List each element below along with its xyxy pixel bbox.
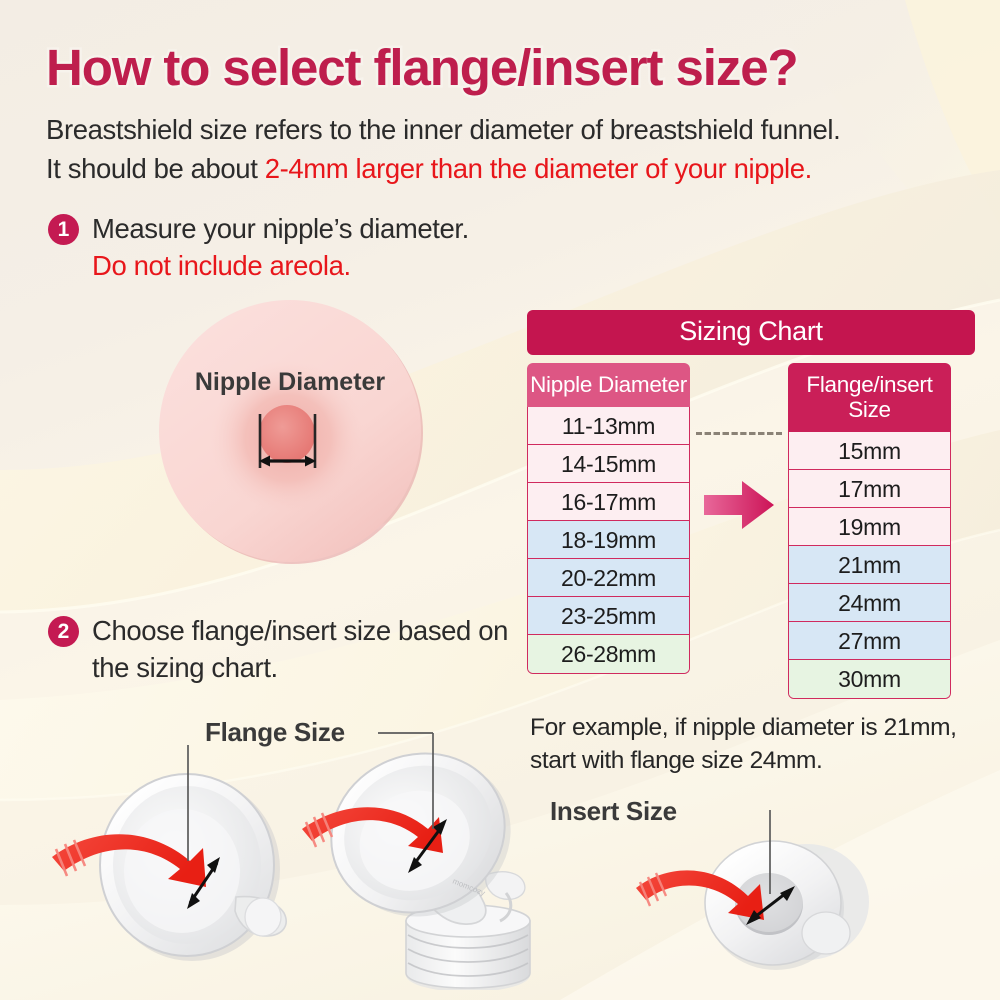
insert-ring-illustration [630,810,930,990]
subtitle-line-2: It should be about 2-4mm larger than the… [46,149,966,188]
chart-cell-flange: 27mm [789,622,950,660]
chart-cells-flange: 15mm17mm19mm21mm24mm27mm30mm [788,432,951,699]
chart-cell-nipple: 11-13mm [528,407,689,445]
page-title: How to select flange/insert size? [46,38,966,97]
chart-cell-flange: 17mm [789,470,950,508]
step-2: 2 Choose flange/insert size based on the… [48,612,548,686]
subtitle-line-1: Breastshield size refers to the inner di… [46,110,966,149]
chart-cells-nipple: 11-13mm14-15mm16-17mm18-19mm20-22mm23-25… [527,407,690,674]
nipple-diameter-label: Nipple Diameter [195,368,386,396]
breastshield-funnel-illustration [40,745,330,975]
chart-cell-flange: 15mm [789,432,950,470]
chart-header-nipple-text: Nipple Diameter [530,372,687,397]
chart-cell-nipple: 14-15mm [528,445,689,483]
chart-cell-nipple: 23-25mm [528,597,689,635]
chart-cell-nipple: 26-28mm [528,635,689,673]
chart-column-header-flange: Flange/insert Size [788,363,951,432]
step-2-badge: 2 [48,616,79,647]
chart-cell-flange: 19mm [789,508,950,546]
subtitle-prefix: It should be about [46,153,265,184]
subtitle-highlight: 2-4mm larger than the diameter of your n… [265,153,812,184]
chart-dashed-connector [690,414,788,452]
chart-connector-column [690,363,788,699]
chart-column-flange: Flange/insert Size 15mm17mm19mm21mm24mm2… [788,363,951,699]
step-1-instruction: Measure your nipple’s diameter. [92,213,469,244]
breastshield-assembly-illustration: momcozy [300,725,600,990]
chart-cell-flange: 30mm [789,660,950,698]
step-1-warning: Do not include areola. [92,247,469,284]
nipple-diameter-diagram: Nipple Diameter [145,298,435,566]
step-1-text: Measure your nipple’s diameter. Do not i… [92,210,469,284]
chart-cell-nipple: 20-22mm [528,559,689,597]
chart-column-header-nipple: Nipple Diameter [527,363,690,407]
page-subtitle: Breastshield size refers to the inner di… [46,110,966,188]
chart-cell-nipple: 16-17mm [528,483,689,521]
step-1: 1 Measure your nipple’s diameter. Do not… [48,210,568,284]
chart-cell-flange: 21mm [789,546,950,584]
step-2-text: Choose flange/insert size based on the s… [92,612,548,686]
chart-header-flange-text: Flange/insert Size [806,372,932,422]
sizing-chart: Sizing Chart Nipple Diameter 11-13mm14-1… [527,310,975,699]
chart-cell-nipple: 18-19mm [528,521,689,559]
chart-column-nipple: Nipple Diameter 11-13mm14-15mm16-17mm18-… [527,363,690,699]
chart-transfer-arrow [702,479,776,531]
chart-cell-flange: 24mm [789,584,950,622]
sizing-chart-title: Sizing Chart [527,310,975,355]
step-1-badge: 1 [48,214,79,245]
